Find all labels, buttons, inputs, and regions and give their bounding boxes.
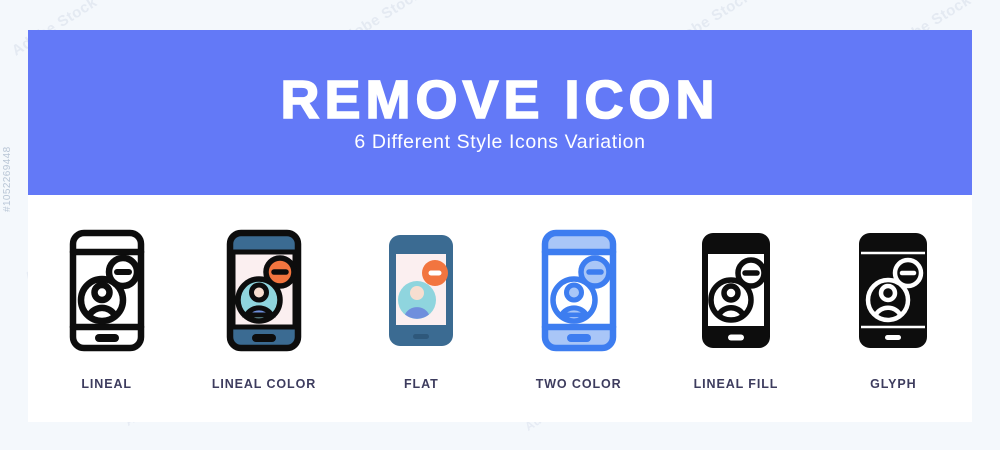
icon-label-glyph: GLYPH (870, 377, 916, 391)
icon-label-lineal-color: LINEAL COLOR (212, 377, 316, 391)
icon-label-lineal: LINEAL (81, 377, 132, 391)
remove-icon-lineal-fill (690, 228, 782, 353)
icon-cell-flat[interactable]: FLAT (346, 228, 496, 391)
poster-card: REMOVE ICON 6 Different Style Icons Vari… (28, 30, 972, 422)
stock-id-label: #1052269448 (2, 146, 13, 212)
poster-stage: Adobe Stock Adobe Stock Adobe Stock Adob… (0, 0, 1000, 450)
header-banner: REMOVE ICON 6 Different Style Icons Vari… (28, 30, 972, 195)
icon-cell-lineal[interactable]: LINEAL (32, 228, 182, 391)
remove-icon-lineal-color (218, 228, 310, 353)
remove-icon-lineal (61, 228, 153, 353)
icon-label-flat: FLAT (404, 377, 439, 391)
icon-cell-two-color[interactable]: TWO COLOR (504, 228, 654, 391)
page-subtitle: 6 Different Style Icons Variation (354, 133, 645, 153)
icon-cell-lineal-color[interactable]: LINEAL COLOR (189, 228, 339, 391)
remove-icon-two-color (533, 228, 625, 353)
remove-icon-flat (375, 228, 467, 353)
icon-cell-glyph[interactable]: GLYPH (818, 228, 968, 391)
icon-variation-grid: LINEAL LINEAL COLOR (28, 195, 972, 422)
icon-label-lineal-fill: LINEAL FILL (694, 377, 779, 391)
remove-icon-glyph (847, 228, 939, 353)
page-title: REMOVE ICON (280, 73, 719, 127)
icon-cell-lineal-fill[interactable]: LINEAL FILL (661, 228, 811, 391)
icon-label-two-color: TWO COLOR (536, 377, 622, 391)
